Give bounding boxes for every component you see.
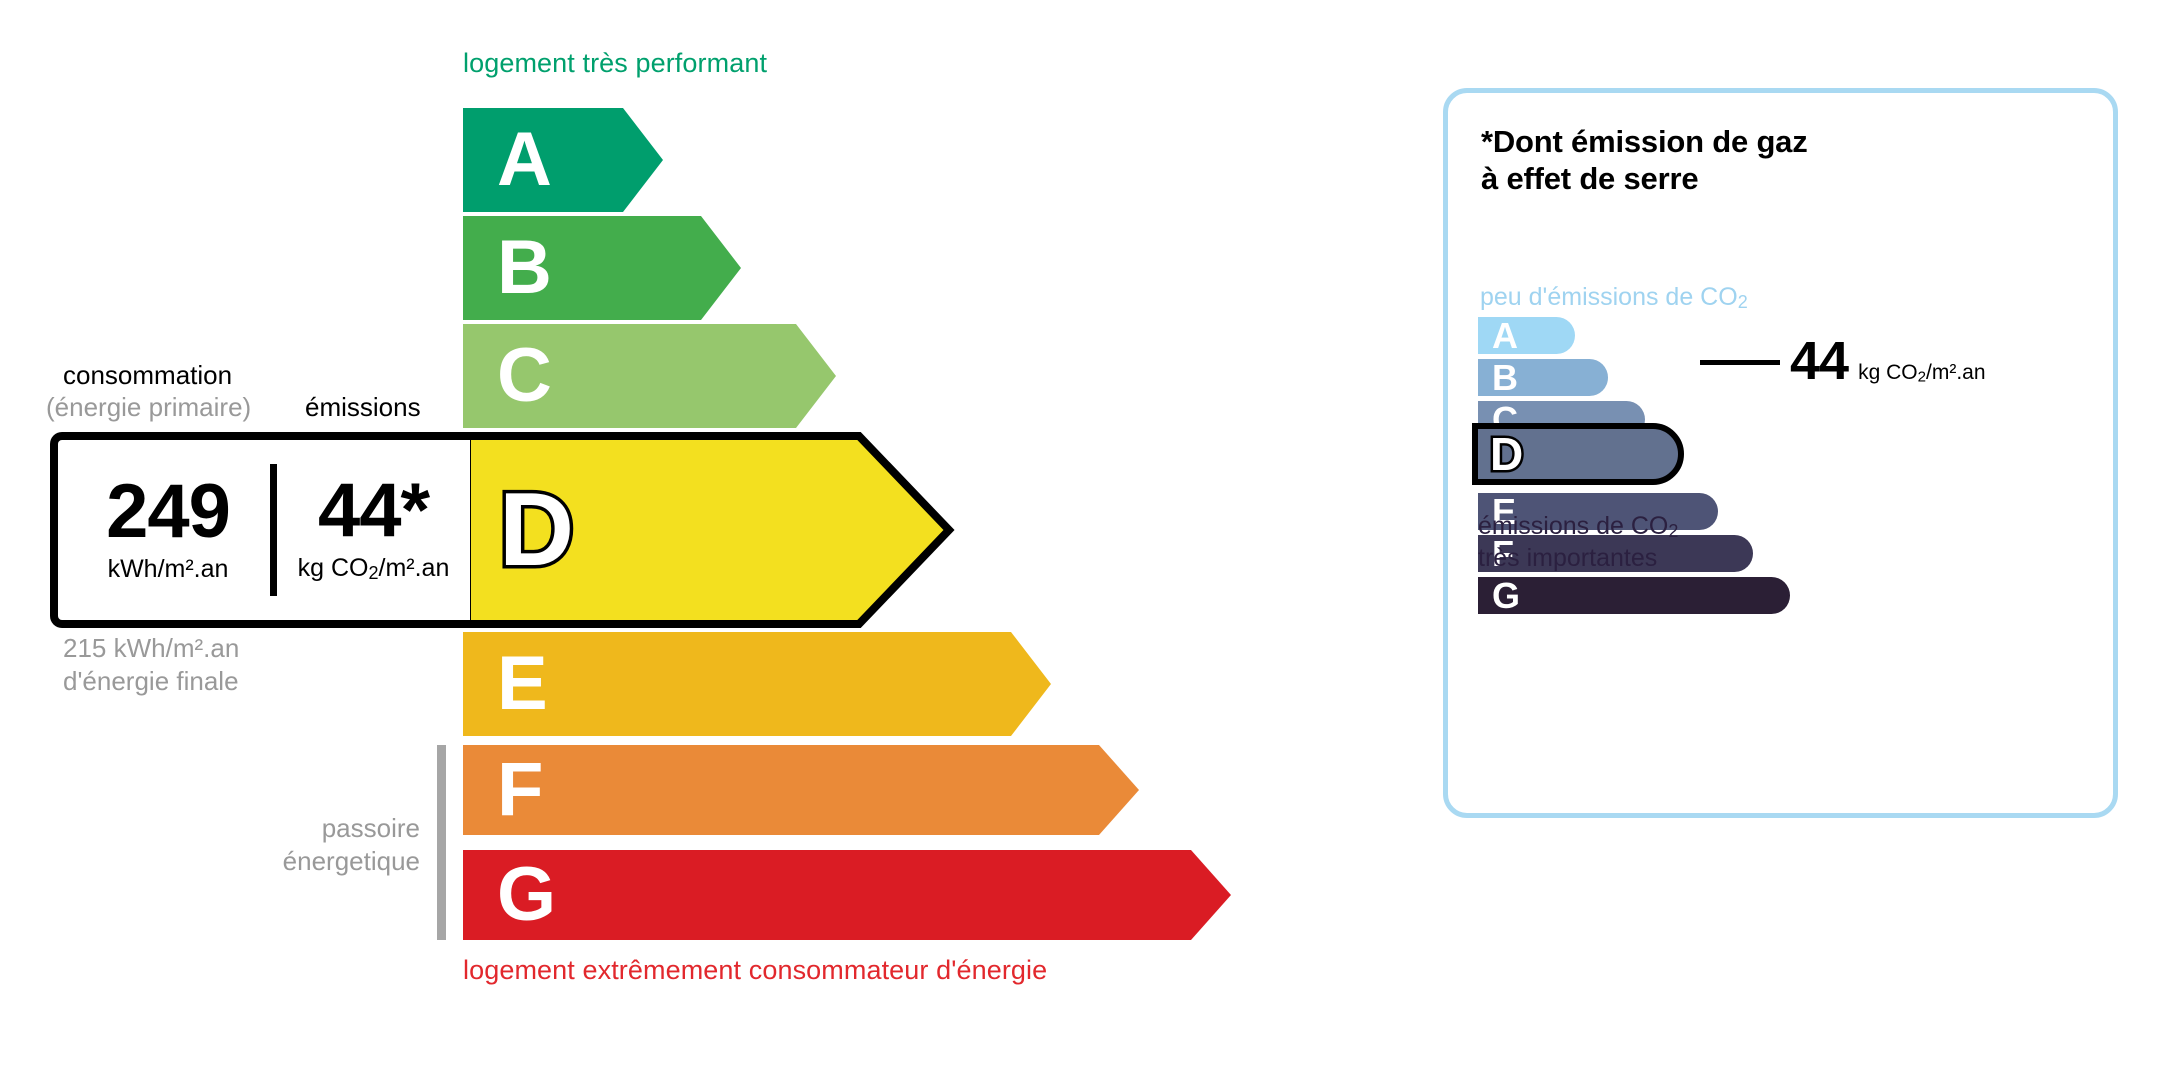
energy-letter-c: C (497, 338, 552, 414)
co2-letter-a: A (1492, 318, 1518, 354)
final-energy-line1: 215 kWh/m².an (63, 633, 239, 663)
energy-row-a: A (463, 108, 663, 212)
emissions-title: émissions (305, 392, 421, 423)
co2-row-g: G (1478, 577, 1790, 614)
final-energy-note: 215 kWh/m².an d'énergie finale (63, 632, 239, 697)
co2-letter-d: D (1490, 431, 1523, 477)
scale-top-label: logement très performant (463, 48, 767, 79)
co2-title-line1: *Dont émission de gaz (1481, 124, 1808, 159)
emissions-cell: 44* kg CO2/m².an (277, 440, 470, 620)
co2-row-b: B (1478, 359, 1608, 396)
co2-row-d-selected: D (1472, 423, 1684, 485)
energy-letter-a: A (497, 122, 552, 198)
values-divider (270, 464, 277, 596)
passoire-label-line1: passoire (322, 813, 420, 843)
energy-arrow-e (463, 632, 1051, 736)
scale-bottom-label: logement extrêmement consommateur d'éner… (463, 955, 1047, 986)
co2-callout: 44 kg CO2/m².an (1790, 330, 1986, 392)
co2-panel: *Dont émission de gaz à effet de serre p… (1443, 88, 2118, 818)
co2-letter-g: G (1492, 578, 1520, 614)
co2-top-label: peu d'émissions de CO2 (1480, 283, 1748, 313)
consommation-unit: kWh/m².an (108, 555, 229, 584)
energy-performance-scale: logement très performant A B C D E (0, 0, 1400, 1079)
emissions-value: 44* (318, 475, 429, 547)
energy-row-g: G (463, 850, 1231, 940)
final-energy-line2: d'énergie finale (63, 666, 239, 696)
co2-letter-b: B (1492, 360, 1518, 396)
co2-bottom-label: émissions de CO2très importantes (1478, 511, 1678, 573)
co2-callout-leader-line (1700, 360, 1780, 365)
energy-row-b: B (463, 216, 741, 320)
passoire-energetique-label: passoire énergetique (180, 812, 420, 877)
co2-callout-unit: kg CO2/m².an (1858, 361, 1985, 386)
passoire-label-line2: énergetique (283, 846, 420, 876)
consommation-cell: 249 kWh/m².an (66, 440, 270, 620)
energy-letter-d: D (499, 478, 574, 582)
co2-title-line2: à effet de serre (1481, 161, 1698, 196)
energy-row-d-selected: D (463, 432, 955, 628)
energy-row-f: F (463, 745, 1139, 835)
energy-row-c: C (463, 324, 836, 428)
co2-bar-g (1478, 577, 1790, 614)
values-box: 249 kWh/m².an 44* kg CO2/m².an (50, 432, 470, 628)
consommation-subtitle: (énergie primaire) (46, 392, 251, 423)
co2-callout-value: 44 (1790, 330, 1848, 392)
energy-arrow-a (463, 108, 663, 212)
co2-row-a: A (1478, 317, 1575, 354)
energy-letter-e: E (497, 646, 548, 722)
emissions-unit: kg CO2/m².an (298, 554, 450, 584)
co2-panel-title: *Dont émission de gaz à effet de serre (1481, 123, 1808, 197)
energy-letter-f: F (497, 752, 543, 828)
passoire-energetique-bar (437, 745, 446, 940)
consommation-value: 249 (106, 476, 230, 548)
consommation-title: consommation (63, 360, 232, 391)
energy-arrow-g (463, 850, 1231, 940)
energy-arrow-f (463, 745, 1139, 835)
energy-row-e: E (463, 632, 1051, 736)
energy-letter-g: G (497, 857, 556, 933)
energy-letter-b: B (497, 230, 552, 306)
